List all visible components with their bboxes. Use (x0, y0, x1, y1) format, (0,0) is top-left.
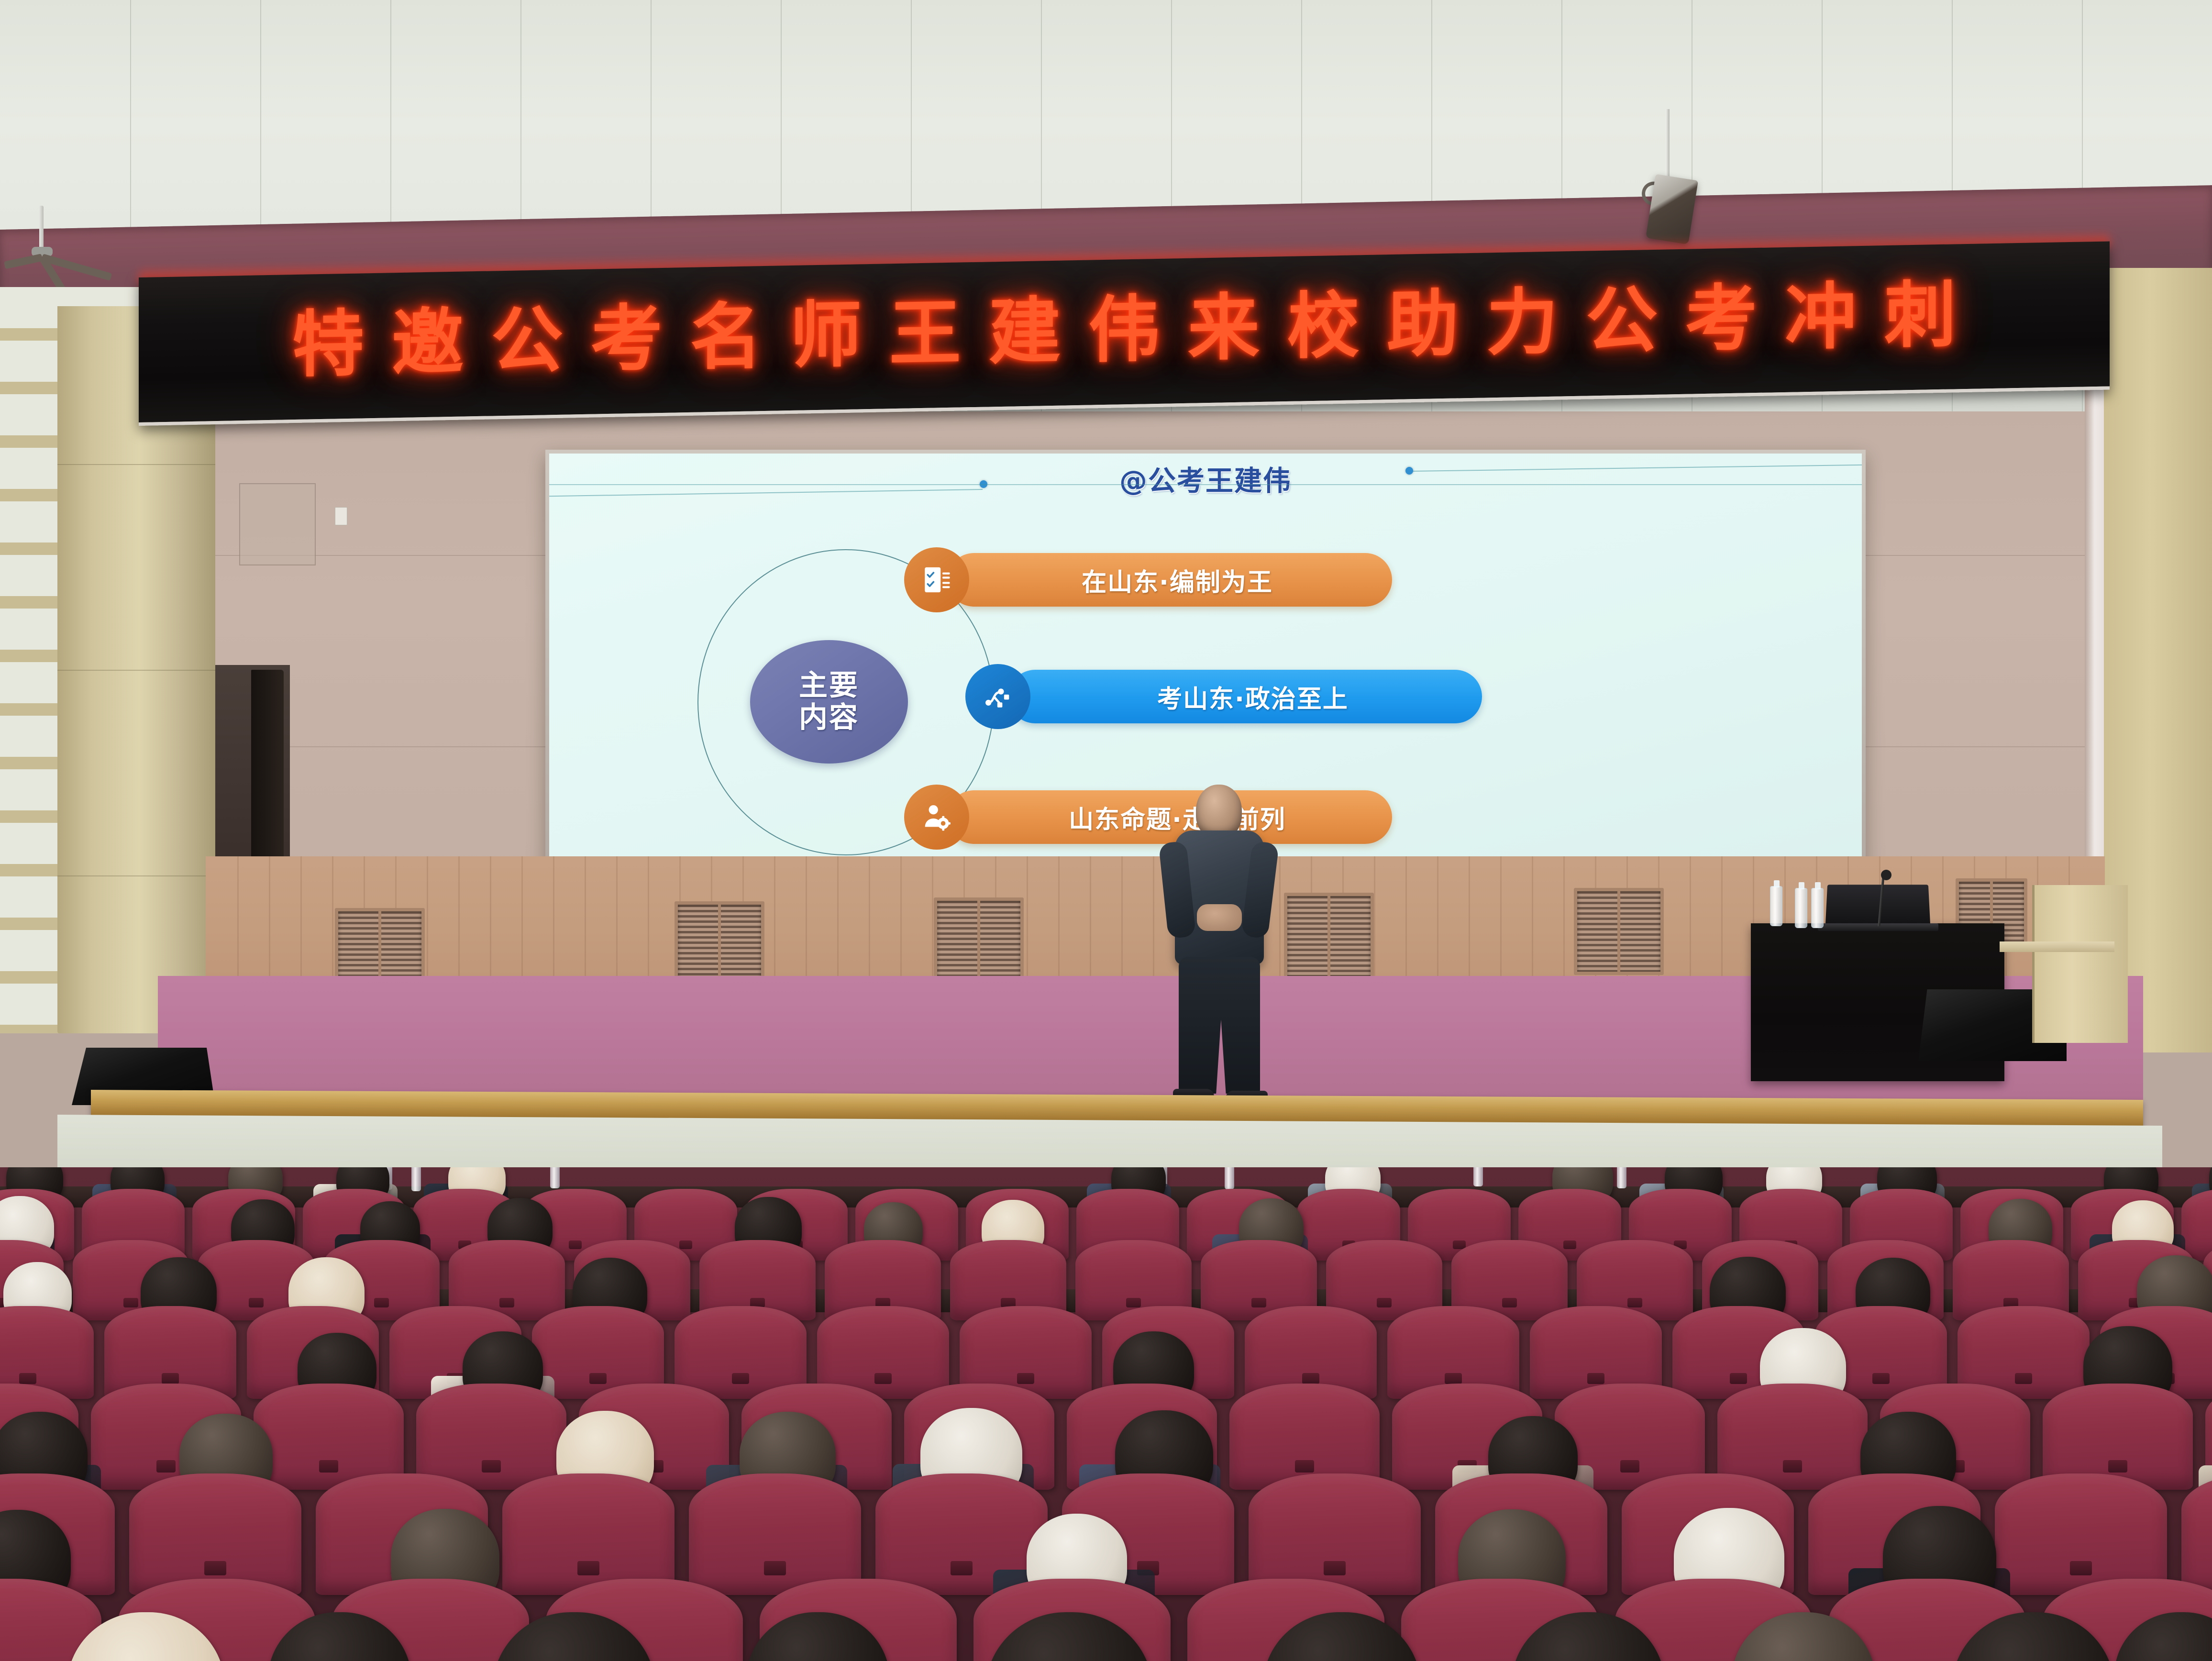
led-char: 邀 (392, 306, 464, 379)
led-char: 师 (790, 299, 862, 372)
presenter-legs (1179, 957, 1260, 1094)
led-char: 校 (1287, 290, 1359, 363)
microphone-head (1881, 870, 1891, 880)
wall-vent-icon (934, 897, 1024, 985)
slide-item-1: 在山东·编制为王 (904, 547, 1392, 612)
user-gear-icon (904, 785, 969, 850)
audience-seating-area (0, 1167, 2212, 1661)
led-char: 名 (690, 301, 762, 374)
ceiling-fan-icon (10, 206, 120, 282)
presenter (1157, 785, 1281, 1115)
water-bottle-icon (1770, 886, 1782, 926)
network-nodes-icon (965, 664, 1030, 729)
slide-watermark: @公考王建伟 (549, 458, 1862, 498)
led-char: 力 (1486, 286, 1558, 359)
led-char: 助 (1387, 288, 1459, 361)
led-char: 来 (1188, 292, 1260, 365)
led-char: 伟 (1088, 293, 1160, 366)
presenter-hands (1197, 904, 1242, 931)
water-bottle-icon (1795, 888, 1807, 928)
wall-vent-icon (675, 901, 764, 988)
auditorium-seat[interactable] (129, 1473, 301, 1595)
stage-side-door[interactable] (2032, 885, 2128, 1043)
auditorium-seat[interactable] (1717, 1384, 1868, 1490)
fan-blade (4, 254, 43, 269)
slide-item-2-bar: 考山东·政治至上 (1008, 670, 1482, 723)
auditorium-seat[interactable] (689, 1473, 861, 1595)
auditorium-seat[interactable] (2181, 1473, 2212, 1595)
led-char: 特 (292, 308, 364, 381)
speaker-rod (1666, 109, 1670, 181)
water-bottle-icon (411, 1167, 421, 1191)
wall-vent-icon (1574, 888, 1664, 975)
auditorium-seat[interactable] (416, 1384, 566, 1490)
hub-line-2: 内容 (799, 702, 859, 734)
wall-vent-icon (1284, 893, 1374, 980)
led-char: 建 (989, 295, 1061, 368)
water-bottle-icon (1473, 1167, 1483, 1186)
hub-line-1: 主要 (799, 670, 859, 702)
slide-item-1-label: 在山东·编制为王 (1082, 562, 1273, 598)
water-bottle-icon (1617, 1167, 1626, 1188)
fan-rod (39, 206, 44, 250)
stage-side-ledge (2000, 941, 2114, 952)
slide-item-2-label: 考山东·政治至上 (1157, 679, 1349, 715)
slide-center-hub: 主要 内容 (750, 640, 908, 764)
slide-item-1-bar: 在山东·编制为王 (947, 553, 1392, 607)
slide-divider (549, 484, 1862, 485)
led-char: 公 (1586, 284, 1658, 357)
water-bottle-icon (1225, 1167, 1234, 1189)
slide-item-3: 山东命题·走在前列 (904, 785, 1392, 850)
led-char: 王 (889, 297, 961, 370)
auditorium-lecture-scene: 特邀公考名师王建伟来校助力公考冲刺 @公考王建伟 主要 内容 (0, 0, 2212, 1661)
led-char: 刺 (1884, 279, 1956, 352)
led-char: 冲 (1785, 281, 1857, 354)
auditorium-seat[interactable] (1249, 1473, 1421, 1595)
wall-access-hatch (239, 483, 316, 565)
led-char: 考 (591, 302, 663, 376)
auditorium-seat[interactable] (1995, 1473, 2167, 1595)
checklist-icon (904, 547, 969, 612)
led-char: 考 (1685, 282, 1757, 355)
water-bottle-icon (550, 1167, 560, 1188)
wall-switch[interactable] (335, 507, 347, 525)
speaker-body (1646, 174, 1698, 244)
water-bottle-icon (1811, 888, 1824, 928)
auditorium-seat[interactable] (502, 1473, 675, 1595)
led-char: 公 (491, 304, 563, 377)
slide-item-2: 考山东·政治至上 (965, 664, 1482, 729)
